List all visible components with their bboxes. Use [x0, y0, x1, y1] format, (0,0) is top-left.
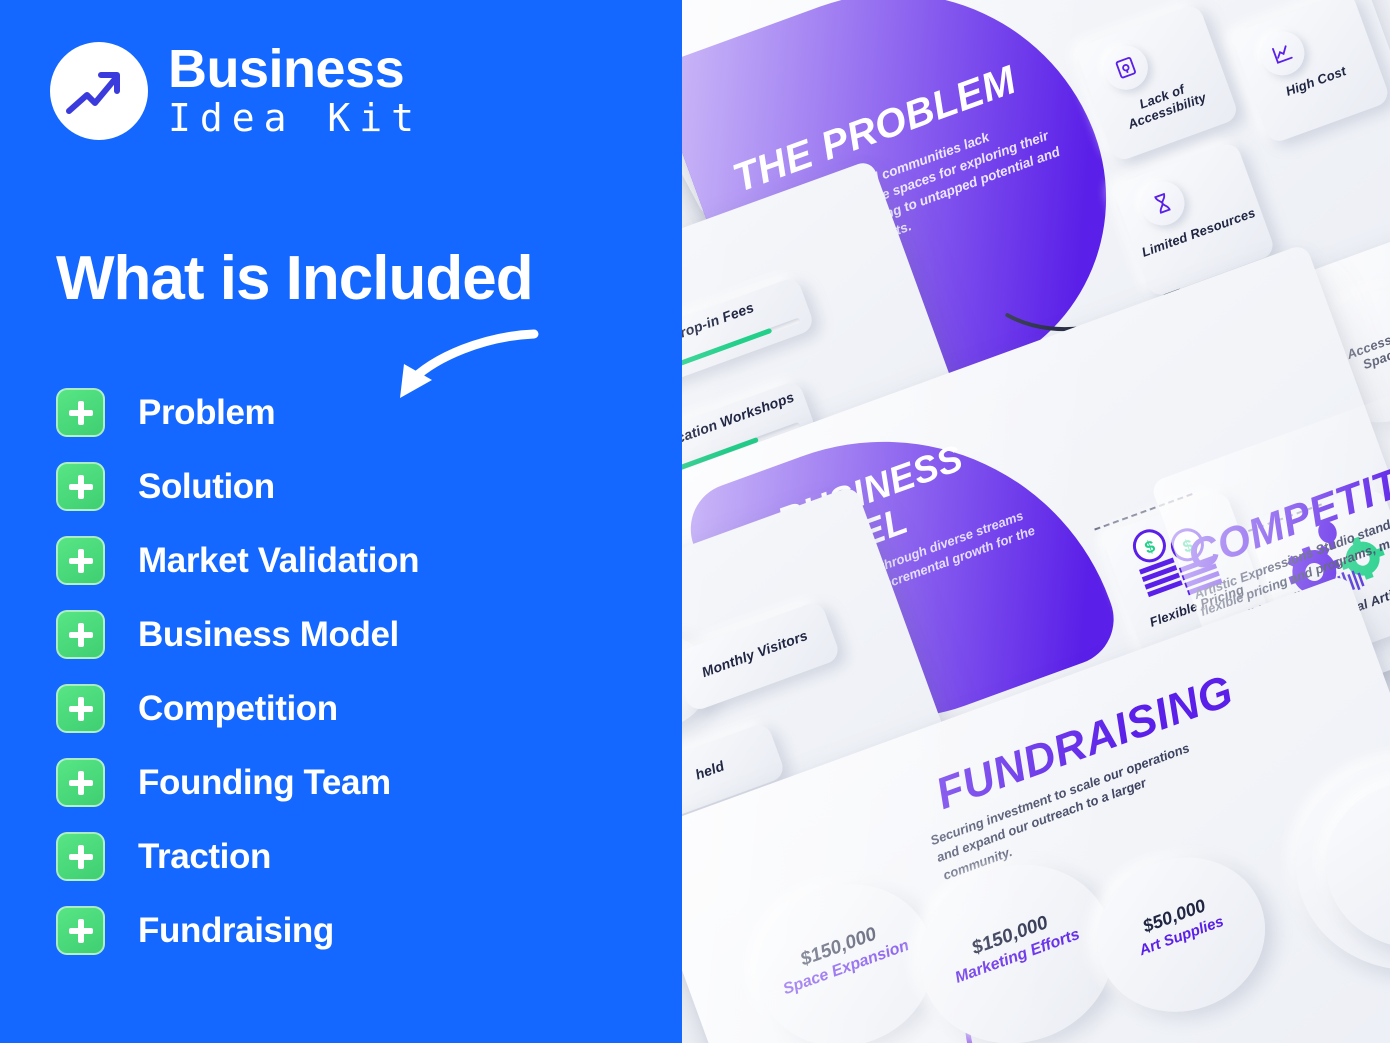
plus-icon — [56, 610, 105, 659]
plus-icon — [56, 536, 105, 585]
list-item[interactable]: Competition — [56, 684, 656, 733]
brand-name-line1: Business — [168, 42, 423, 96]
list-item-label: Traction — [138, 837, 271, 877]
plus-icon — [56, 388, 105, 437]
poster-canvas: THE PROBLEM Many individuals and communi… — [0, 0, 1390, 1043]
list-item-label: Competition — [138, 689, 338, 729]
list-item-label: Business Model — [138, 615, 399, 655]
list-item[interactable]: Solution — [56, 462, 656, 511]
plus-icon — [56, 832, 105, 881]
left-blue-panel: Business Idea Kit What is Included Probl… — [0, 0, 682, 1043]
list-item[interactable]: Founding Team — [56, 758, 656, 807]
list-item[interactable]: Problem — [56, 388, 656, 437]
brand-name-line2: Idea Kit — [168, 96, 423, 141]
plus-icon — [56, 462, 105, 511]
list-item-label: Solution — [138, 467, 275, 507]
brand-logo[interactable]: Business Idea Kit — [50, 42, 423, 141]
problem-card-1[interactable] — [1231, 0, 1390, 145]
list-item-label: Fundraising — [138, 911, 334, 951]
list-item[interactable]: Traction — [56, 832, 656, 881]
list-item-label: Problem — [138, 393, 275, 433]
included-list: Problem Solution Market Validation Busin… — [56, 388, 656, 980]
list-item[interactable]: Market Validation — [56, 536, 656, 585]
plus-icon — [56, 758, 105, 807]
plus-icon — [56, 684, 105, 733]
list-item-label: Market Validation — [138, 541, 419, 581]
page-title: What is Included — [56, 248, 533, 310]
list-item[interactable]: Fundraising — [56, 906, 656, 955]
growth-chart-circle-icon — [50, 42, 148, 140]
list-item[interactable]: Business Model — [56, 610, 656, 659]
plus-icon — [56, 906, 105, 955]
list-item-label: Founding Team — [138, 763, 391, 803]
